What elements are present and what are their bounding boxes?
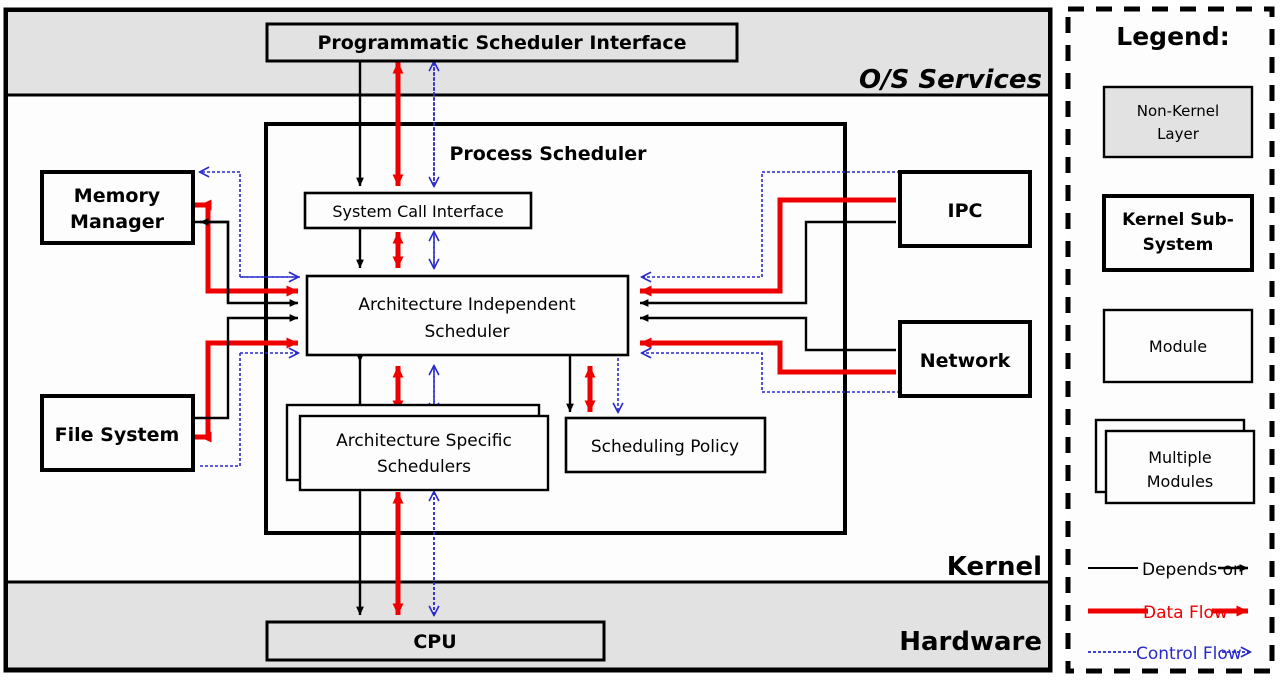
box-file-system[interactable]: File System xyxy=(42,396,193,470)
legend-item-non-kernel-layer: Non-Kernel Layer xyxy=(1104,87,1252,157)
legend-kernel-sub-line2: System xyxy=(1143,235,1214,255)
diagram-canvas: Programmatic Scheduler Interface Process… xyxy=(0,0,1280,680)
process-scheduler-title: Process Scheduler xyxy=(450,143,648,165)
sci-label: System Call Interface xyxy=(332,202,503,221)
box-ipc[interactable]: IPC xyxy=(900,172,1030,246)
box-scheduling-policy[interactable]: Scheduling Policy xyxy=(566,418,765,472)
file-system-label: File System xyxy=(55,424,180,446)
psi-label: Programmatic Scheduler Interface xyxy=(317,32,686,54)
legend-panel: Legend: Non-Kernel Layer Kernel Sub- Sys… xyxy=(1068,9,1272,671)
ass-label-line1: Architecture Specific xyxy=(336,431,512,451)
box-architecture-specific-schedulers[interactable]: Architecture Specific Schedulers xyxy=(287,405,548,490)
legend-item-module: Module xyxy=(1104,310,1252,382)
box-cpu[interactable]: CPU xyxy=(267,622,604,660)
layer-label-hardware: Hardware xyxy=(899,627,1042,657)
network-label: Network xyxy=(920,350,1011,372)
legend-title: Legend: xyxy=(1116,22,1229,51)
ass-label-line2: Schedulers xyxy=(377,457,471,477)
ais-label-line2: Scheduler xyxy=(424,322,509,342)
cpu-label: CPU xyxy=(413,631,456,653)
legend-control-flow-label: Control Flow xyxy=(1136,644,1242,664)
legend-non-kernel-line1: Non-Kernel xyxy=(1137,102,1219,120)
os-scheduler-architecture-diagram: Programmatic Scheduler Interface Process… xyxy=(0,0,1280,680)
legend-multiple-line2: Modules xyxy=(1147,472,1214,491)
legend-item-kernel-sub-system: Kernel Sub- System xyxy=(1104,196,1252,270)
legend-item-multiple-modules: Multiple Modules xyxy=(1096,420,1254,503)
scheduling-policy-label: Scheduling Policy xyxy=(591,437,739,457)
legend-non-kernel-line2: Layer xyxy=(1157,125,1200,143)
box-programmatic-scheduler-interface[interactable]: Programmatic Scheduler Interface xyxy=(267,24,737,61)
box-network[interactable]: Network xyxy=(900,322,1030,396)
legend-module-label: Module xyxy=(1149,337,1207,356)
legend-depends-on-label: Depends on xyxy=(1142,560,1244,580)
memory-manager-label-line1: Memory xyxy=(74,185,161,207)
memory-manager-label-line2: Manager xyxy=(70,211,165,233)
legend-kernel-sub-line1: Kernel Sub- xyxy=(1122,210,1234,230)
box-system-call-interface[interactable]: System Call Interface xyxy=(305,193,531,228)
box-memory-manager[interactable]: Memory Manager xyxy=(42,172,193,243)
legend-multiple-line1: Multiple xyxy=(1148,448,1212,467)
ais-label-line1: Architecture Independent xyxy=(358,295,576,315)
box-architecture-independent-scheduler[interactable]: Architecture Independent Scheduler xyxy=(307,276,628,355)
layer-label-os-services: O/S Services xyxy=(859,65,1042,95)
ipc-label: IPC xyxy=(948,200,983,222)
layer-label-kernel: Kernel xyxy=(947,552,1042,582)
